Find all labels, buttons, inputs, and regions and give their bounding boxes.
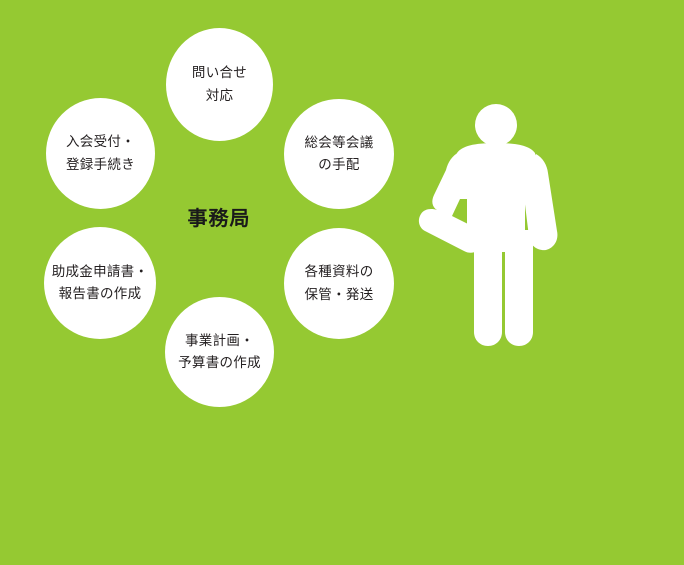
person-presenting-icon [412, 100, 592, 360]
bubble-membership-registration: 入会受付・ 登録手続き [46, 98, 155, 209]
bubble-meetings-line-1: 総会等会議 [305, 132, 374, 154]
bubble-planning-line-1: 事業計画・ [185, 330, 254, 352]
bubble-meetings-line-2: の手配 [318, 154, 359, 176]
bubble-inquiry-line-1: 問い合せ [192, 62, 247, 84]
bubble-grants-line-2: 報告書の作成 [59, 283, 142, 305]
sjimukyoku-duties-diagram: 事務局 問い合せ 対応 入会受付・ 登録手続き 総会等会議 の手配 助成金申請書… [0, 0, 684, 565]
bubble-membership-line-2: 登録手続き [66, 154, 135, 176]
bubble-meeting-arrangements: 総会等会議 の手配 [284, 99, 394, 209]
bubble-documents-line-2: 保管・発送 [305, 284, 374, 306]
bubble-inquiry-response: 問い合せ 対応 [166, 28, 273, 141]
bubble-inquiry-line-2: 対応 [206, 85, 234, 107]
bubble-grants-line-1: 助成金申請書・ [52, 261, 149, 283]
bubble-business-plan-budget: 事業計画・ 予算書の作成 [165, 297, 274, 407]
page-title: 事務局 [0, 202, 438, 231]
bubble-grant-applications: 助成金申請書・ 報告書の作成 [44, 227, 156, 339]
bubble-document-storage-shipping: 各種資料の 保管・発送 [284, 228, 394, 339]
bubble-membership-line-1: 入会受付・ [66, 131, 135, 153]
bubble-documents-line-1: 各種資料の [305, 261, 374, 283]
bubble-planning-line-2: 予算書の作成 [178, 352, 261, 374]
